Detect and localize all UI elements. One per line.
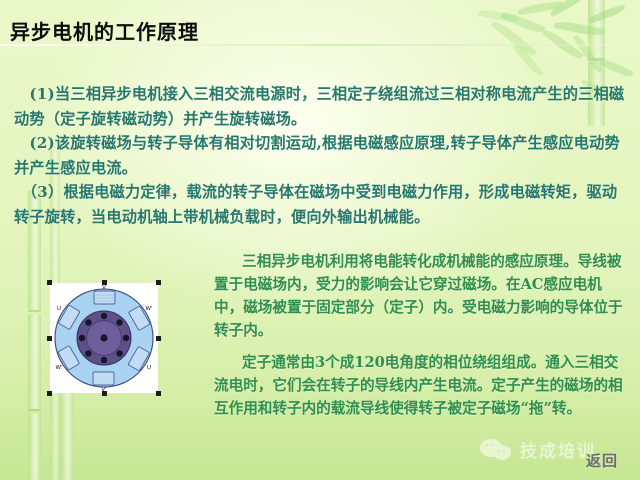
side-paragraph-1-text: 三相异步电机利用将电能转化成机械能的感应原理。导线被置于电磁场内，受力的影响会让… [214, 253, 623, 339]
side-paragraph-1: 三相异步电机利用将电能转化成机械能的感应原理。导线被置于电磁场内，受力的影响会让… [214, 250, 626, 342]
coil-label-u-prime: U [57, 306, 61, 312]
selection-handle-ne[interactable] [156, 280, 161, 285]
wechat-icon [480, 439, 514, 461]
side-text-block: 三相异步电机利用将电能转化成机械能的感应原理。导线被置于电磁场内，受力的影响会让… [214, 250, 626, 429]
brand-name: 技成培训 [520, 437, 596, 462]
motor-cross-section-figure[interactable]: V W' U V' W' U [50, 283, 158, 393]
slide-canvas: 异步电机的工作原理 (1)当三相异步电机接入三相交流电源时，三相定子绕组流过三相… [0, 0, 640, 480]
side-paragraph-2-text: 定子通常由3个成120电角度的相位绕组组成。通入三相交流电时，它们会在转子的导线… [214, 354, 623, 417]
coil-label-w: W' [56, 365, 63, 371]
body-paragraph-2: (2)该旋转磁场与转子导体有相对切割运动,根据电磁感应原理,转子导体产生感应电动… [14, 131, 626, 180]
coil-label-w-prime: W' [146, 306, 153, 312]
body-paragraph-3: （3）根据电磁力定律，载流的转子导体在磁场中受到电磁力作用，形成电磁转矩，驱动转… [14, 180, 626, 229]
site-watermark: WWW.JSNSNGUOI.COM [472, 88, 632, 94]
selection-handle-nw[interactable] [47, 280, 52, 285]
bamboo-stalk-left-a [28, 190, 41, 480]
selection-handle-s[interactable] [102, 391, 107, 396]
selection-handle-e[interactable] [156, 336, 161, 341]
selection-handle-w[interactable] [47, 336, 52, 341]
body-text-block: (1)当三相异步电机接入三相交流电源时，三相定子绕组流过三相对称电流产生的三相磁… [14, 82, 626, 229]
bamboo-stalk-left-c [60, 392, 74, 480]
brand-watermark: 技成培训 [480, 437, 596, 462]
page-title: 异步电机的工作原理 [10, 16, 199, 45]
title-divider [0, 44, 640, 46]
selection-handle-se[interactable] [156, 391, 161, 396]
selection-handle-sw[interactable] [47, 391, 52, 396]
coil-label-u: U [147, 365, 151, 371]
selection-handle-n[interactable] [102, 280, 107, 285]
side-paragraph-2: 定子通常由3个成120电角度的相位绕组组成。通入三相交流电时，它们会在转子的导线… [214, 351, 626, 420]
coil-label-v: V [102, 285, 106, 291]
return-button[interactable]: 返回 [586, 450, 618, 471]
